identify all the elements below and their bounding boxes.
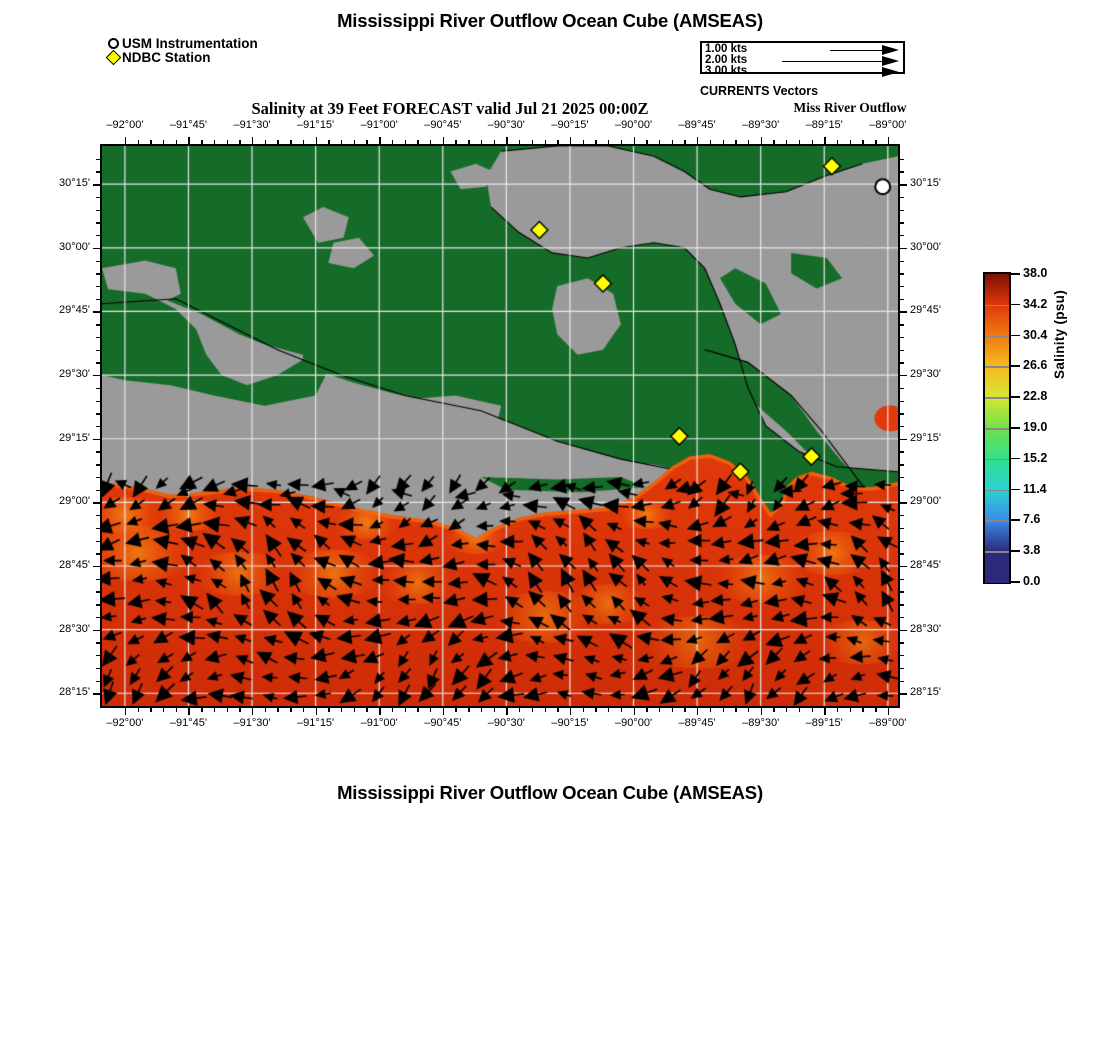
colorbar-tick-label: 15.2 bbox=[1023, 451, 1047, 465]
lat-tick-right bbox=[900, 375, 907, 376]
lon-tick-bottom bbox=[799, 708, 800, 712]
currents-key-caption: CURRENTS Vectors bbox=[700, 84, 818, 98]
lon-tick-bottom bbox=[138, 708, 139, 712]
lat-tick-left bbox=[93, 439, 100, 440]
colorbar-segment bbox=[985, 459, 1009, 490]
lon-tick-bottom bbox=[570, 708, 571, 715]
lat-tick-right bbox=[900, 502, 907, 503]
lon-label-bottom: –89°15' bbox=[789, 717, 859, 729]
lat-tick-right bbox=[900, 655, 904, 656]
colorbar-tick bbox=[1011, 550, 1020, 552]
circle-marker-icon bbox=[108, 38, 119, 49]
lon-tick-bottom bbox=[672, 708, 673, 712]
lon-tick-bottom bbox=[341, 708, 342, 712]
diamond-marker-icon bbox=[106, 50, 122, 66]
colorbar[interactable]: 38.034.230.426.622.819.015.211.47.63.80.… bbox=[983, 272, 1011, 584]
lon-tick-bottom bbox=[532, 708, 533, 712]
lat-tick-right bbox=[900, 464, 904, 465]
lat-label-left: 29°00' bbox=[28, 495, 90, 507]
lon-tick-bottom bbox=[176, 708, 177, 712]
lon-tick-bottom bbox=[608, 708, 609, 712]
lon-tick-bottom bbox=[366, 708, 367, 712]
lat-label-right: 29°30' bbox=[910, 368, 972, 380]
lat-tick-right bbox=[900, 362, 904, 363]
colorbar-segment bbox=[985, 397, 1009, 428]
lat-tick-right bbox=[900, 273, 904, 274]
lon-tick-top bbox=[188, 137, 189, 144]
lon-tick-top bbox=[634, 137, 635, 144]
lon-tick-bottom bbox=[417, 708, 418, 712]
currents-vector-key: 1.00 kts 2.00 kts 3.00 kts bbox=[700, 41, 905, 74]
lon-tick-top bbox=[125, 137, 126, 144]
colorbar-tick bbox=[1011, 365, 1020, 367]
colorbar-tick-label: 11.4 bbox=[1023, 482, 1047, 496]
lat-tick-right bbox=[900, 401, 904, 402]
lat-tick-right bbox=[900, 324, 904, 325]
lat-label-right: 30°15' bbox=[910, 177, 972, 189]
lat-tick-right bbox=[900, 350, 904, 351]
lon-label-top: –90°30' bbox=[471, 119, 541, 131]
lon-tick-bottom bbox=[824, 708, 825, 715]
lon-tick-top bbox=[888, 137, 889, 144]
lat-label-left: 30°15' bbox=[28, 177, 90, 189]
map-plot-area[interactable] bbox=[100, 144, 900, 708]
lat-tick-right bbox=[900, 426, 904, 427]
legend-item-ndbc: NDBC Station bbox=[108, 51, 258, 64]
currents-key-shaft-3 bbox=[732, 72, 882, 73]
colorbar-tick bbox=[1011, 489, 1020, 491]
lon-tick-bottom bbox=[862, 708, 863, 712]
salinity-map-canvas[interactable] bbox=[102, 146, 898, 706]
currents-key-arrowhead-1 bbox=[882, 45, 899, 55]
colorbar-tick bbox=[1011, 581, 1020, 583]
lat-tick-left bbox=[93, 248, 100, 249]
colorbar-segment bbox=[985, 336, 1009, 367]
lat-tick-right bbox=[900, 159, 904, 160]
colorbar-tick bbox=[1011, 396, 1020, 398]
lon-tick-bottom bbox=[684, 708, 685, 712]
lon-tick-bottom bbox=[634, 708, 635, 715]
lon-tick-bottom bbox=[227, 708, 228, 712]
lon-tick-bottom bbox=[710, 708, 711, 712]
colorbar-segment bbox=[985, 274, 1009, 305]
lat-tick-right bbox=[900, 477, 904, 478]
lon-label-top: –91°00' bbox=[344, 119, 414, 131]
lon-tick-bottom bbox=[328, 708, 329, 712]
colorbar-tick bbox=[1011, 304, 1020, 306]
lon-tick-bottom bbox=[150, 708, 151, 712]
colorbar-segment bbox=[985, 520, 1009, 551]
lon-tick-bottom bbox=[506, 708, 507, 715]
lon-label-top: –91°15' bbox=[281, 119, 351, 131]
lon-tick-bottom bbox=[519, 708, 520, 712]
lat-tick-right bbox=[900, 222, 904, 223]
lon-tick-top bbox=[697, 137, 698, 144]
lon-label-top: –90°00' bbox=[599, 119, 669, 131]
lat-tick-right bbox=[900, 668, 904, 669]
lon-tick-bottom bbox=[316, 708, 317, 715]
colorbar-divider bbox=[985, 397, 1009, 399]
dataset-corner-label: Miss River Outflow bbox=[770, 100, 930, 116]
lon-tick-bottom bbox=[595, 708, 596, 712]
legend-item-usm: USM Instrumentation bbox=[108, 37, 258, 50]
lon-tick-bottom bbox=[773, 708, 774, 712]
lon-tick-bottom bbox=[545, 708, 546, 712]
colorbar-tick-label: 30.4 bbox=[1023, 328, 1047, 342]
colorbar-tick-label: 34.2 bbox=[1023, 297, 1047, 311]
colorbar-segment bbox=[985, 490, 1009, 521]
lon-tick-bottom bbox=[455, 708, 456, 712]
lon-tick-bottom bbox=[379, 708, 380, 715]
lon-label-top: –91°45' bbox=[153, 119, 223, 131]
lat-tick-right bbox=[900, 248, 907, 249]
legend-label-ndbc: NDBC Station bbox=[122, 51, 211, 64]
colorbar-tick-label: 0.0 bbox=[1023, 574, 1040, 588]
lat-label-right: 29°15' bbox=[910, 432, 972, 444]
lon-label-top: –91°30' bbox=[217, 119, 287, 131]
lat-label-left: 30°00' bbox=[28, 241, 90, 253]
lon-label-bottom: –89°00' bbox=[853, 717, 923, 729]
lon-label-bottom: –90°00' bbox=[599, 717, 669, 729]
lon-tick-bottom bbox=[188, 708, 189, 715]
lon-tick-top bbox=[443, 137, 444, 144]
lat-label-left: 29°15' bbox=[28, 432, 90, 444]
colorbar-divider bbox=[985, 459, 1009, 461]
lat-label-right: 29°45' bbox=[910, 304, 972, 316]
lon-label-bottom: –91°00' bbox=[344, 717, 414, 729]
legend-label-usm: USM Instrumentation bbox=[122, 37, 258, 50]
colorbar-segment bbox=[985, 305, 1009, 336]
lat-tick-right bbox=[900, 439, 907, 440]
lon-tick-bottom bbox=[239, 708, 240, 712]
lon-tick-bottom bbox=[265, 708, 266, 712]
colorbar-divider bbox=[985, 305, 1009, 307]
lat-tick-right bbox=[900, 515, 904, 516]
lon-label-bottom: –90°30' bbox=[471, 717, 541, 729]
lon-tick-bottom bbox=[875, 708, 876, 712]
lon-tick-bottom bbox=[163, 708, 164, 712]
colorbar-tick bbox=[1011, 519, 1020, 521]
currents-key-shaft-2 bbox=[782, 61, 882, 62]
lon-tick-bottom bbox=[850, 708, 851, 712]
lat-tick-right bbox=[900, 541, 904, 542]
lat-tick-right bbox=[900, 681, 904, 682]
lat-tick-right bbox=[900, 184, 907, 185]
lon-tick-bottom bbox=[277, 708, 278, 712]
lon-tick-bottom bbox=[646, 708, 647, 712]
lat-label-left: 29°45' bbox=[28, 304, 90, 316]
lat-tick-right bbox=[900, 235, 904, 236]
lat-tick-right bbox=[900, 642, 904, 643]
colorbar-gradient[interactable] bbox=[983, 272, 1011, 584]
lon-tick-bottom bbox=[786, 708, 787, 712]
lat-tick-right bbox=[900, 261, 904, 262]
lat-label-left: 28°15' bbox=[28, 686, 90, 698]
lat-label-right: 28°45' bbox=[910, 559, 972, 571]
lon-tick-bottom bbox=[252, 708, 253, 715]
lat-tick-right bbox=[900, 388, 904, 389]
colorbar-tick bbox=[1011, 427, 1020, 429]
lat-tick-right bbox=[900, 451, 904, 452]
colorbar-tick bbox=[1011, 273, 1020, 275]
lat-tick-right bbox=[900, 528, 904, 529]
lat-label-left: 29°30' bbox=[28, 368, 90, 380]
lat-tick-right bbox=[900, 171, 904, 172]
lat-tick-left bbox=[93, 566, 100, 567]
station-legend: USM Instrumentation NDBC Station bbox=[108, 37, 258, 65]
currents-key-arrowhead-3 bbox=[882, 67, 899, 77]
lon-tick-top bbox=[379, 137, 380, 144]
colorbar-divider bbox=[985, 490, 1009, 492]
lon-tick-bottom bbox=[735, 708, 736, 712]
lon-tick-top bbox=[506, 137, 507, 144]
lat-tick-right bbox=[900, 604, 904, 605]
lon-tick-top bbox=[824, 137, 825, 144]
footer-title: Mississippi River Outflow Ocean Cube (AM… bbox=[0, 782, 1100, 804]
lat-tick-right bbox=[900, 311, 907, 312]
lat-tick-right bbox=[900, 337, 904, 338]
colorbar-tick-label: 3.8 bbox=[1023, 543, 1040, 557]
colorbar-divider bbox=[985, 366, 1009, 368]
colorbar-divider bbox=[985, 520, 1009, 522]
lon-label-bottom: –89°45' bbox=[662, 717, 732, 729]
colorbar-divider bbox=[985, 551, 1009, 553]
lon-label-bottom: –92°00' bbox=[90, 717, 160, 729]
lon-tick-top bbox=[252, 137, 253, 144]
lat-label-left: 28°30' bbox=[28, 623, 90, 635]
colorbar-tick-label: 19.0 bbox=[1023, 420, 1047, 434]
lon-tick-bottom bbox=[812, 708, 813, 712]
colorbar-segment bbox=[985, 428, 1009, 459]
lon-label-bottom: –90°15' bbox=[535, 717, 605, 729]
lat-tick-left bbox=[93, 184, 100, 185]
lon-tick-bottom bbox=[303, 708, 304, 712]
lat-label-right: 28°30' bbox=[910, 623, 972, 635]
currents-key-row-3: 3.00 kts bbox=[702, 67, 903, 78]
lon-tick-bottom bbox=[468, 708, 469, 712]
lon-tick-bottom bbox=[354, 708, 355, 712]
lon-label-bottom: –91°30' bbox=[217, 717, 287, 729]
lat-tick-left bbox=[93, 693, 100, 694]
map-subtitle: Salinity at 39 Feet FORECAST valid Jul 2… bbox=[100, 99, 800, 119]
colorbar-tick bbox=[1011, 335, 1020, 337]
lat-tick-right bbox=[900, 617, 904, 618]
lon-tick-bottom bbox=[888, 708, 889, 715]
lon-label-bottom: –91°15' bbox=[281, 717, 351, 729]
lat-label-right: 28°15' bbox=[910, 686, 972, 698]
lat-tick-right bbox=[900, 197, 904, 198]
lon-tick-bottom bbox=[481, 708, 482, 712]
lat-tick-left bbox=[93, 311, 100, 312]
lon-tick-bottom bbox=[290, 708, 291, 712]
colorbar-divider bbox=[985, 336, 1009, 338]
lon-label-bottom: –90°45' bbox=[408, 717, 478, 729]
lon-tick-top bbox=[570, 137, 571, 144]
currents-key-shaft-1 bbox=[830, 50, 882, 51]
lon-tick-bottom bbox=[443, 708, 444, 715]
lat-tick-right bbox=[900, 693, 907, 694]
lon-tick-bottom bbox=[405, 708, 406, 712]
lon-tick-bottom bbox=[125, 708, 126, 715]
lon-tick-bottom bbox=[557, 708, 558, 712]
lon-label-top: –90°45' bbox=[408, 119, 478, 131]
colorbar-title: Salinity (psu) bbox=[1052, 290, 1067, 379]
lat-label-left: 28°45' bbox=[28, 559, 90, 571]
lon-label-top: –89°45' bbox=[662, 119, 732, 131]
lat-tick-right bbox=[900, 630, 907, 631]
lon-label-top: –89°30' bbox=[726, 119, 796, 131]
lon-label-top: –92°00' bbox=[90, 119, 160, 131]
lat-tick-right bbox=[900, 553, 904, 554]
lat-tick-right bbox=[900, 579, 904, 580]
lon-tick-bottom bbox=[214, 708, 215, 712]
lon-tick-bottom bbox=[697, 708, 698, 715]
lon-tick-top bbox=[761, 137, 762, 144]
lon-tick-bottom bbox=[761, 708, 762, 715]
lon-tick-bottom bbox=[748, 708, 749, 712]
colorbar-tick-label: 7.6 bbox=[1023, 512, 1040, 526]
lon-label-top: –89°00' bbox=[853, 119, 923, 131]
lat-tick-left bbox=[93, 630, 100, 631]
lon-tick-top bbox=[316, 137, 317, 144]
colorbar-divider bbox=[985, 428, 1009, 430]
page-title: Mississippi River Outflow Ocean Cube (AM… bbox=[0, 10, 1100, 32]
lat-tick-right bbox=[900, 299, 904, 300]
lon-label-top: –89°15' bbox=[789, 119, 859, 131]
colorbar-segment bbox=[985, 551, 1009, 582]
lat-tick-right bbox=[900, 286, 904, 287]
lat-tick-left bbox=[93, 375, 100, 376]
lon-tick-bottom bbox=[583, 708, 584, 712]
lon-tick-bottom bbox=[723, 708, 724, 712]
colorbar-tick-label: 22.8 bbox=[1023, 389, 1047, 403]
lon-label-bottom: –89°30' bbox=[726, 717, 796, 729]
lon-label-bottom: –91°45' bbox=[153, 717, 223, 729]
lon-tick-bottom bbox=[201, 708, 202, 712]
lon-tick-bottom bbox=[494, 708, 495, 712]
colorbar-tick bbox=[1011, 458, 1020, 460]
lon-tick-bottom bbox=[621, 708, 622, 712]
lon-tick-bottom bbox=[430, 708, 431, 712]
lat-tick-right bbox=[900, 490, 904, 491]
lat-tick-right bbox=[900, 210, 904, 211]
lat-tick-right bbox=[900, 413, 904, 414]
lat-tick-right bbox=[900, 591, 904, 592]
lon-tick-bottom bbox=[392, 708, 393, 712]
colorbar-tick-label: 26.6 bbox=[1023, 358, 1047, 372]
lon-tick-bottom bbox=[837, 708, 838, 712]
lat-tick-left bbox=[93, 502, 100, 503]
lon-label-top: –90°15' bbox=[535, 119, 605, 131]
colorbar-segment bbox=[985, 366, 1009, 397]
lat-label-right: 30°00' bbox=[910, 241, 972, 253]
currents-key-arrowhead-2 bbox=[882, 56, 899, 66]
colorbar-tick-label: 38.0 bbox=[1023, 266, 1047, 280]
lat-label-right: 29°00' bbox=[910, 495, 972, 507]
lon-tick-bottom bbox=[659, 708, 660, 712]
lat-tick-right bbox=[900, 566, 907, 567]
